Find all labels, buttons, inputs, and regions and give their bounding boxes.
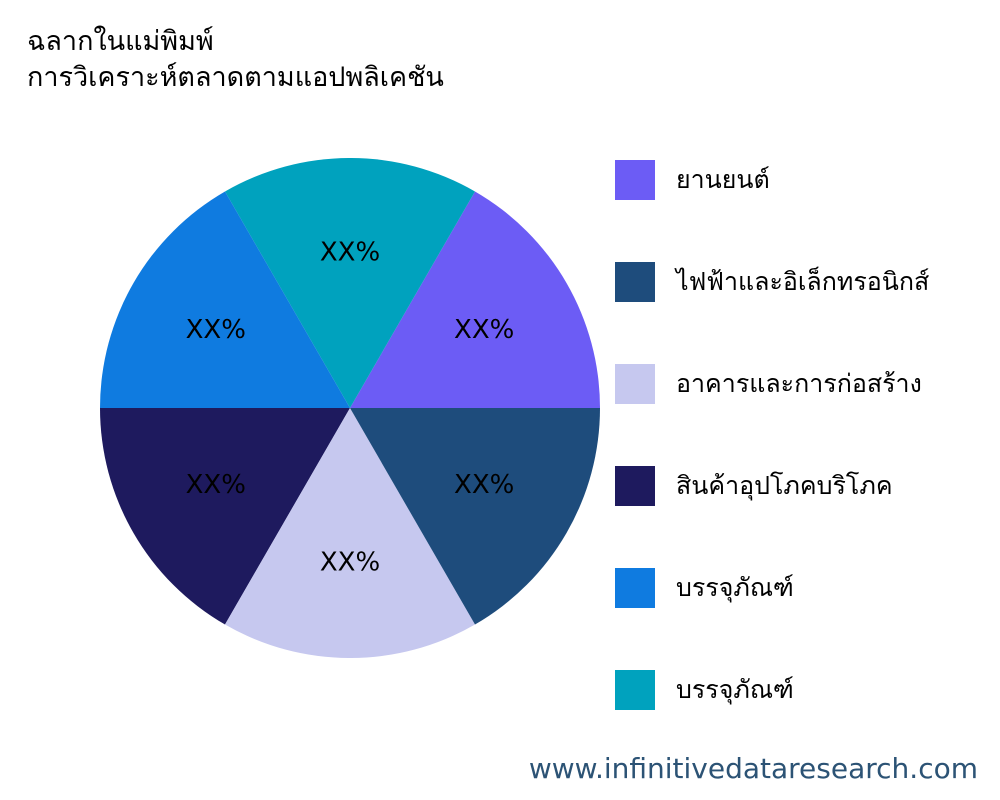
legend-color-swatch [615, 670, 655, 710]
legend-item-label: อาคารและการก่อสร้าง [676, 369, 922, 399]
legend-item-label: ยานยนต์ [676, 165, 770, 195]
title-line-2: การวิเคราะห์ตลาดตามแอปพลิเคชัน [27, 60, 647, 96]
legend-item[interactable]: ยานยนต์ [615, 160, 995, 200]
page-title: ฉลากในแม่พิมพ์ การวิเคราะห์ตลาดตามแอปพลิ… [27, 24, 647, 96]
pie-slice-value-label: XX% [454, 470, 514, 500]
pie-chart: XX%XX%XX%XX%XX%XX% [100, 158, 600, 658]
pie-slice-group [100, 158, 600, 658]
pie-slice-value-label: XX% [320, 548, 380, 578]
chart-legend: ยานยนต์ไฟฟ้าและอิเล็กทรอนิกส์อาคารและการ… [615, 160, 995, 710]
pie-slice-value-label: XX% [186, 315, 246, 345]
legend-item-label: ไฟฟ้าและอิเล็กทรอนิกส์ [676, 267, 929, 297]
pie-slice-value-label: XX% [186, 470, 246, 500]
legend-item-label: สินค้าอุปโภคบริโภค [676, 471, 893, 501]
legend-item[interactable]: ไฟฟ้าและอิเล็กทรอนิกส์ [615, 262, 995, 302]
legend-item-label: บรรจุภัณฑ์ [676, 573, 794, 603]
legend-item[interactable]: อาคารและการก่อสร้าง [615, 364, 995, 404]
legend-color-swatch [615, 364, 655, 404]
legend-color-swatch [615, 262, 655, 302]
legend-item[interactable]: บรรจุภัณฑ์ [615, 670, 995, 710]
legend-color-swatch [615, 568, 655, 608]
chart-canvas: ฉลากในแม่พิมพ์ การวิเคราะห์ตลาดตามแอปพลิ… [0, 0, 1000, 800]
pie-slice-value-label: XX% [320, 238, 380, 268]
pie-chart-svg: XX%XX%XX%XX%XX%XX% [100, 158, 600, 658]
legend-item[interactable]: สินค้าอุปโภคบริโภค [615, 466, 995, 506]
legend-color-swatch [615, 160, 655, 200]
legend-color-swatch [615, 466, 655, 506]
source-url[interactable]: www.infinitivedataresearch.com [529, 752, 978, 786]
pie-slice-value-label: XX% [454, 315, 514, 345]
legend-item[interactable]: บรรจุภัณฑ์ [615, 568, 995, 608]
title-line-1: ฉลากในแม่พิมพ์ [27, 24, 647, 60]
legend-item-label: บรรจุภัณฑ์ [676, 675, 794, 705]
